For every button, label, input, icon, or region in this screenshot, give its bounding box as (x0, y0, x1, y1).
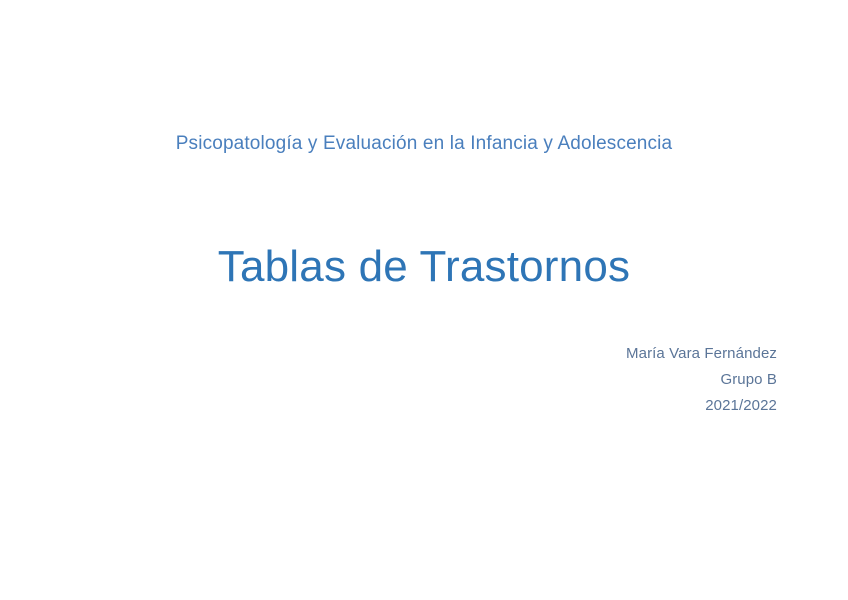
author-metadata-block: María Vara Fernández Grupo B 2021/2022 (400, 341, 777, 419)
author-name: María Vara Fernández (400, 341, 777, 367)
group-label: Grupo B (400, 367, 777, 393)
document-cover-page: Psicopatología y Evaluación en la Infanc… (0, 0, 848, 600)
page-title: Tablas de Trastornos (0, 238, 848, 296)
course-subtitle: Psicopatología y Evaluación en la Infanc… (0, 131, 848, 157)
academic-year: 2021/2022 (400, 393, 777, 419)
